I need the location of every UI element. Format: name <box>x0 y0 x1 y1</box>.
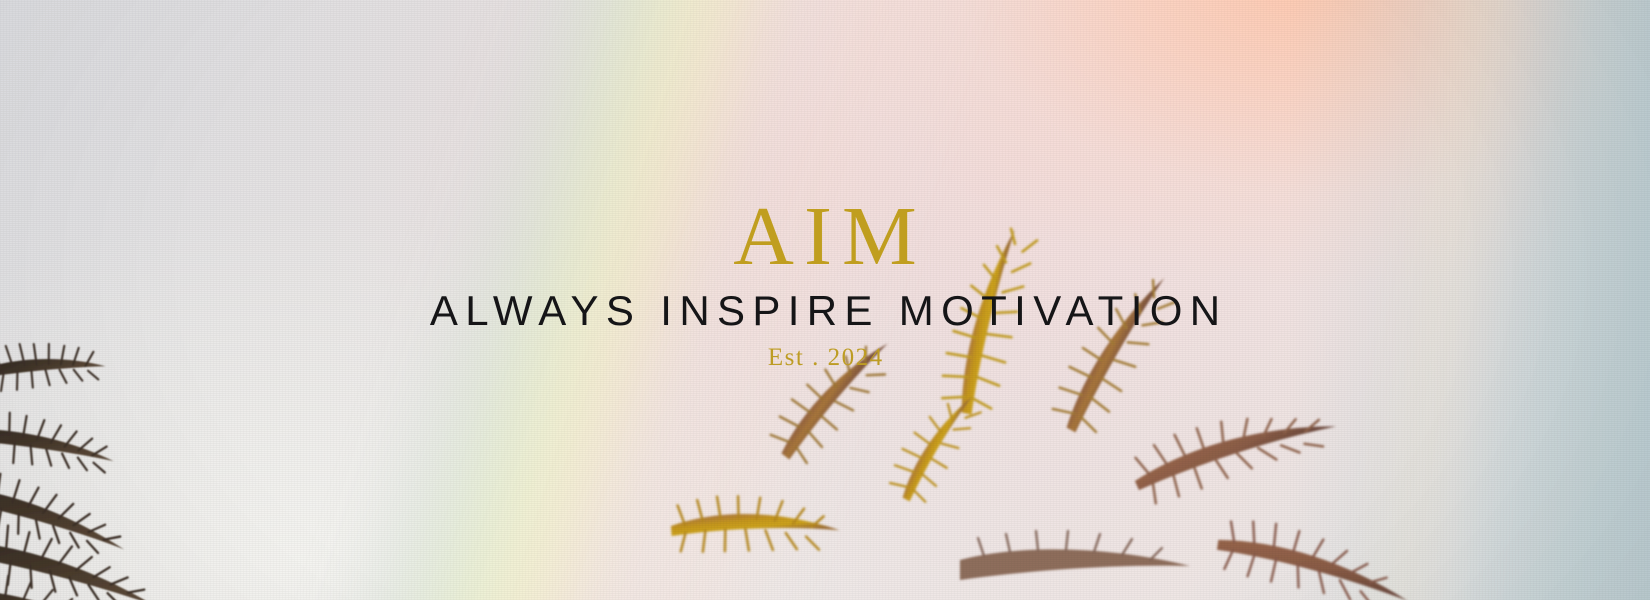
palm-fronds-left <box>0 334 228 600</box>
brand-tagline: ALWAYS INSPIRE MOTIVATION <box>0 289 1650 333</box>
brand-banner: AIM ALWAYS INSPIRE MOTIVATION Est . 2024 <box>0 0 1650 600</box>
brand-established-year: Est . 2024 <box>0 345 1650 370</box>
brand-mark-aim: AIM <box>0 198 1650 275</box>
brand-lockup: AIM ALWAYS INSPIRE MOTIVATION Est . 2024 <box>0 198 1650 370</box>
